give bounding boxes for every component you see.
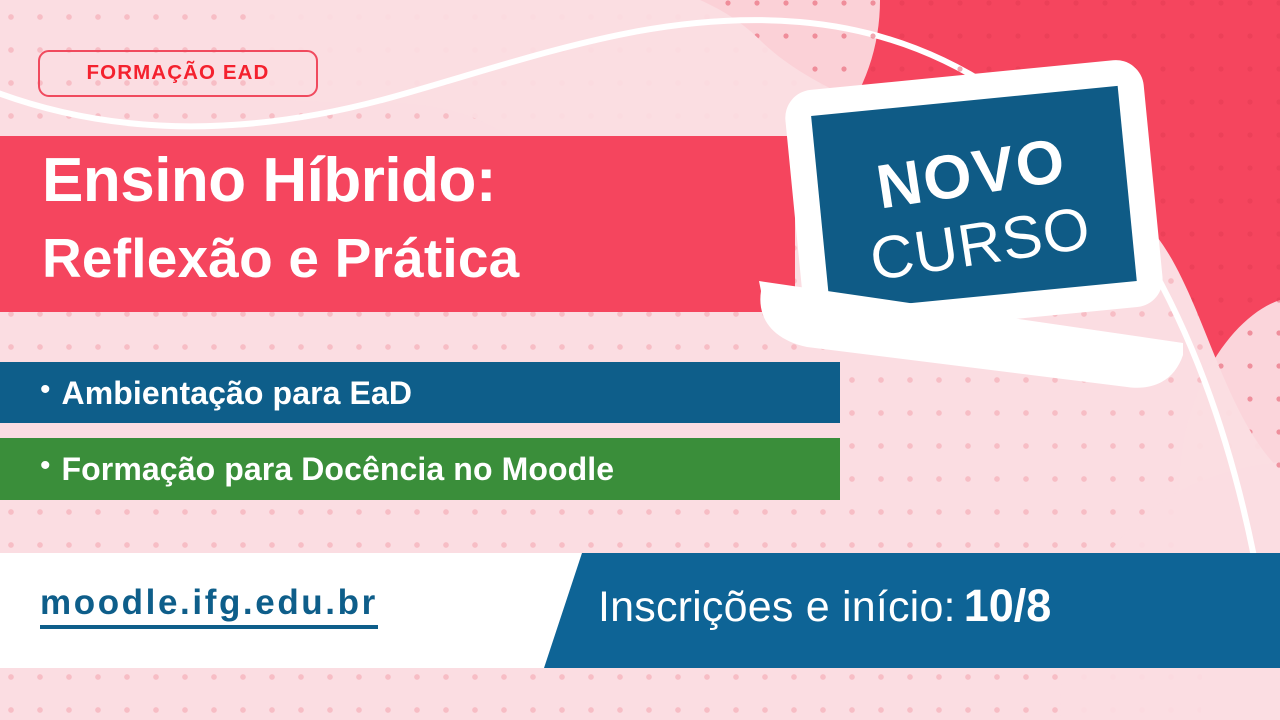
footer-bar: moodle.ifg.edu.br Inscrições e início:10… [0, 553, 1280, 668]
promo-banner: FORMAÇÃO EAD Ensino Híbrido: Reflexão e … [0, 0, 1280, 720]
title-inner: Ensino Híbrido: Reflexão e Prática [42, 142, 802, 296]
bullet-icon: • [40, 375, 51, 405]
title-block: Ensino Híbrido: Reflexão e Prática [0, 136, 795, 312]
topic-bar-ambientacao: • Ambientação para EaD [0, 362, 840, 423]
topic-label: Ambientação para EaD [62, 377, 413, 409]
laptop-illustration: NOVO CURSO [735, 55, 1205, 405]
badge-label: FORMAÇÃO EAD [87, 63, 270, 84]
moodle-url-link[interactable]: moodle.ifg.edu.br [40, 585, 378, 629]
topic-bar-formacao-moodle: • Formação para Docência no Moodle [0, 438, 840, 500]
cta-date: 10/8 [964, 580, 1052, 631]
footer-cta: Inscrições e início:10/8 [598, 583, 1051, 629]
topic-label: Formação para Docência no Moodle [62, 453, 615, 485]
page-title-line1: Ensino Híbrido: [42, 142, 802, 220]
cta-label: Inscrições e início: [598, 583, 956, 631]
formacao-ead-badge: FORMAÇÃO EAD [38, 50, 318, 97]
page-title-line2: Reflexão e Prática [42, 220, 802, 296]
bullet-icon: • [40, 451, 51, 481]
